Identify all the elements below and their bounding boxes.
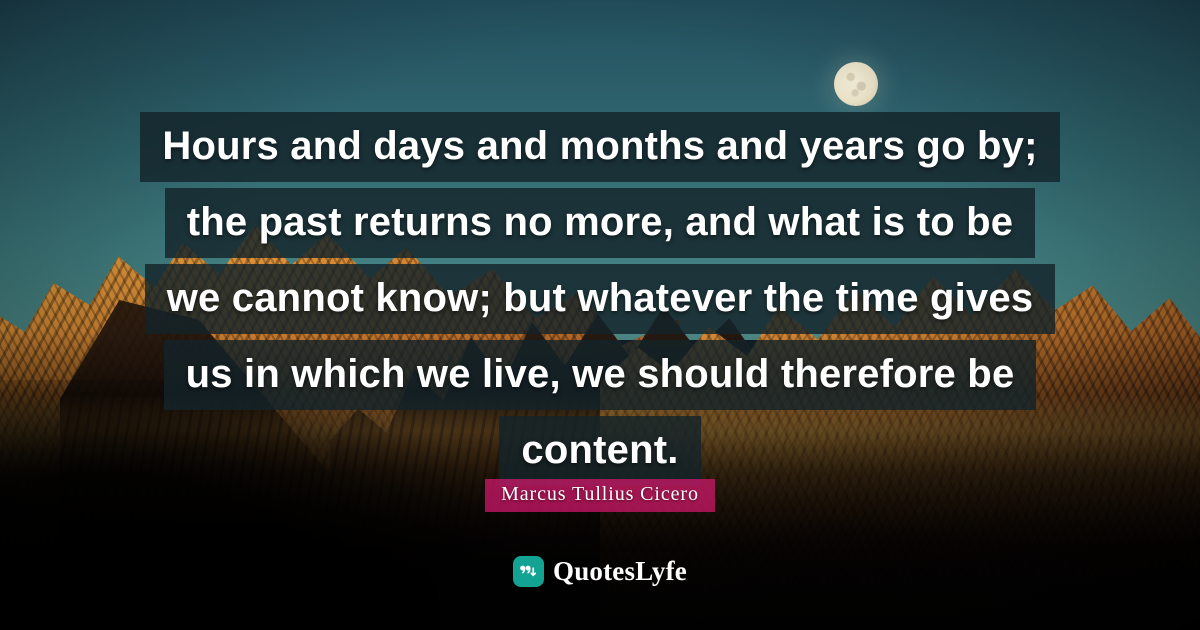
quotation-mark-icon xyxy=(513,556,544,587)
quote-line: Hours and days and months and years go b… xyxy=(140,112,1059,182)
quote-line: the past returns no more, and what is to… xyxy=(165,188,1036,258)
quote-text-block: Hours and days and months and years go b… xyxy=(0,112,1200,492)
brand-logo: QuotesLyfe xyxy=(0,556,1200,587)
quote-line: we cannot know; but whatever the time gi… xyxy=(145,264,1056,334)
author-attribution: Marcus Tullius Cicero xyxy=(0,479,1200,512)
quote-line: us in which we live, we should therefore… xyxy=(164,340,1037,410)
quote-image-canvas: Hours and days and months and years go b… xyxy=(0,0,1200,630)
author-name-badge: Marcus Tullius Cicero xyxy=(485,479,715,512)
quote-line: content. xyxy=(499,416,700,486)
brand-name: QuotesLyfe xyxy=(553,558,687,585)
